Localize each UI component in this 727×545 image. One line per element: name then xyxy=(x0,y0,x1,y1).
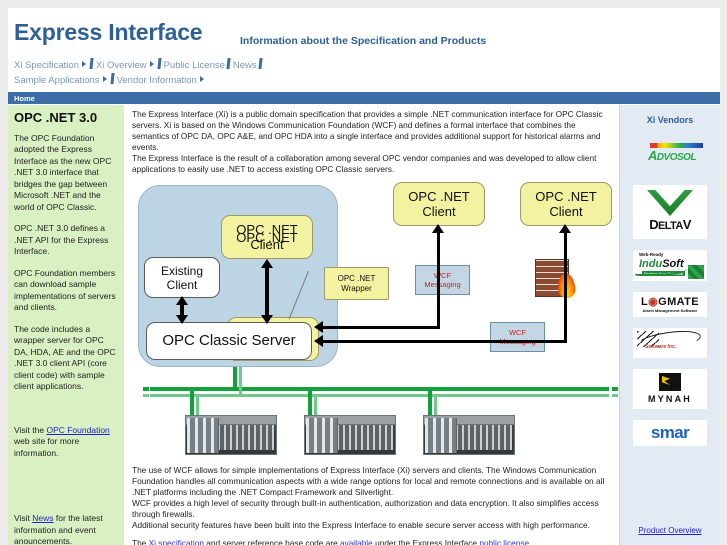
arrow-client3-to-wcf xyxy=(564,232,567,342)
client3-label: OPC .NET Client xyxy=(535,189,596,219)
news-prefix: Visit xyxy=(14,513,32,523)
vendor-logo-logmate[interactable]: L◉GMATE Alarm Management Software xyxy=(633,292,707,317)
nav-separator xyxy=(226,58,230,69)
diagram-box-opc-net-wrapper: OPC .NET Wrapper xyxy=(324,267,389,300)
right-sidebar: Xi Vendors ADVOSOL DELTAV Web-Ready Indu… xyxy=(619,105,720,545)
vendor-logo-advosol[interactable]: ADVOSOL xyxy=(633,138,707,174)
arrowhead-left xyxy=(314,321,323,333)
breadcrumb[interactable]: Home xyxy=(8,92,720,105)
left-sidebar: OPC .NET 3.0 The OPC Foundation adopted … xyxy=(8,105,125,545)
vendor-logo-deltav[interactable]: DELTAV xyxy=(633,185,707,239)
diagram-box-opc-classic-server: OPC Classic Server xyxy=(146,322,312,360)
license-line: The Xi specification and server referenc… xyxy=(132,538,612,545)
xi-specification-link[interactable]: Xi specification xyxy=(149,538,204,545)
server-rack-1 xyxy=(185,415,277,455)
chevron-right-icon[interactable] xyxy=(150,61,154,67)
network-drop-host-2 xyxy=(239,367,242,396)
rack-tower xyxy=(425,418,457,453)
intro-block: The Express Interface (Xi) is a public d… xyxy=(132,109,612,175)
network-drop-rack-3 xyxy=(428,389,432,417)
news-link[interactable]: News xyxy=(32,513,53,523)
diagram-box-opc-net-client-2: OPC .NET Client xyxy=(393,182,485,226)
available-link[interactable]: available xyxy=(340,538,373,545)
architecture-diagram: OPC .NET OPC .NET Client Existing Client… xyxy=(132,177,622,459)
network-dash-left-2 xyxy=(143,394,169,397)
vendors-title: Xi Vendors xyxy=(620,115,720,125)
intro-paragraph-1: The Express Interface (Xi) is a public d… xyxy=(132,109,612,153)
license-part3: under the Express Interface xyxy=(373,538,480,545)
wcf2-label: WCF Messaging xyxy=(499,328,535,346)
spacer xyxy=(14,403,117,425)
logmate-tagline: Alarm Management Software xyxy=(633,308,707,313)
inner-client-label: OPC .NET Client xyxy=(221,215,313,259)
page-root: Express Interface Information about the … xyxy=(8,8,720,545)
diagram-box-wcf-messaging-1: WCF Messaging xyxy=(415,265,470,295)
top-navigation: Xi SpecificationXi OverviewPublic Licens… xyxy=(14,58,344,88)
mynah-wordmark: MYNAH xyxy=(633,394,707,404)
rack-tower xyxy=(187,418,219,453)
deltav-chevron-icon xyxy=(647,190,693,216)
indusoft-tagline: Web-Ready xyxy=(639,252,663,257)
page-title: Express Interface xyxy=(14,19,202,46)
arrowhead-down xyxy=(176,315,188,324)
left-sidebar-paragraph-4: The code includes a wrapper server for O… xyxy=(14,324,117,393)
rack-tower xyxy=(306,418,338,453)
arrowhead-down xyxy=(261,315,273,324)
nav-separator xyxy=(258,58,262,69)
outro-block: The use of WCF allows for simple impleme… xyxy=(132,465,612,545)
chevron-right-icon[interactable] xyxy=(82,61,86,67)
network-dash-right xyxy=(594,387,620,391)
spacer xyxy=(14,469,117,513)
breadcrumb-home[interactable]: Home xyxy=(14,94,35,103)
outro-paragraph-3: Additional security features have been b… xyxy=(132,520,612,531)
network-drop-rack-1b xyxy=(196,395,199,417)
public-license-link[interactable]: public license xyxy=(479,538,529,545)
chevron-right-icon[interactable] xyxy=(103,76,107,82)
existing-client-label: Existing Client xyxy=(161,264,203,292)
network-drop-rack-2 xyxy=(308,389,312,417)
nav-separator xyxy=(110,73,114,84)
license-part1: The xyxy=(132,538,149,545)
network-dash-right-2 xyxy=(594,394,620,397)
content-columns: OPC .NET 3.0 The OPC Foundation adopted … xyxy=(8,105,720,545)
nav-item-news[interactable]: News xyxy=(233,60,257,71)
network-dash-left xyxy=(143,387,169,391)
product-overview-link[interactable]: Product Overview xyxy=(620,526,720,535)
smar-wordmark: smar xyxy=(633,423,707,443)
opc-foundation-paragraph: Visit the OPC Foundation web site for mo… xyxy=(14,425,117,460)
diagram-box-existing-client: Existing Client xyxy=(144,257,220,298)
license-part4: . xyxy=(529,538,531,545)
chevron-right-icon[interactable] xyxy=(200,76,204,82)
news-paragraph: Visit News for the latest information an… xyxy=(14,513,117,545)
arrowhead-up xyxy=(261,259,273,268)
nav-item-sample-applications[interactable]: Sample Applications xyxy=(14,75,100,86)
nav-item-xi-specification[interactable]: Xi Specification xyxy=(14,60,79,71)
arrow-wcf1-to-server xyxy=(322,326,440,329)
site-header: Express Interface Information about the … xyxy=(8,8,720,92)
main-content: The Express Interface (Xi) is a public d… xyxy=(126,105,618,545)
diagram-box-wcf-messaging-2: WCF Messaging xyxy=(490,322,545,352)
left-sidebar-heading: OPC .NET 3.0 xyxy=(14,112,117,124)
opc-foundation-suffix: web site for more information. xyxy=(14,436,79,458)
nav-item-public-license[interactable]: Public License xyxy=(164,60,225,71)
network-bus-secondary xyxy=(150,394,605,397)
server-rack-3 xyxy=(423,415,515,455)
nav-separator xyxy=(89,58,93,69)
wcf1-label: WCF Messaging xyxy=(424,271,460,289)
site-tagline: Information about the Specification and … xyxy=(240,35,486,47)
logmate-wordmark: L◉GMATE xyxy=(633,295,707,308)
intro-paragraph-2: The Express Interface is the result of a… xyxy=(132,153,612,175)
network-bus-main xyxy=(150,387,605,391)
left-sidebar-paragraph-1: The OPC Foundation adopted the Express I… xyxy=(14,133,117,214)
license-part2: and server reference base code are xyxy=(204,538,340,545)
arrowhead-up xyxy=(432,224,444,233)
nav-item-xi-overview[interactable]: Xi Overview xyxy=(96,60,147,71)
vendor-logo-smar[interactable]: smar xyxy=(633,420,707,446)
vendor-logo-software-inc[interactable]: Software Inc. xyxy=(633,328,707,358)
indusoft-cubes-icon xyxy=(688,265,704,279)
classic-server-label: OPC Classic Server xyxy=(162,334,295,348)
server-rack-2 xyxy=(304,415,396,455)
deltav-wordmark: DELTAV xyxy=(633,217,707,232)
arrowhead-left xyxy=(314,335,323,347)
network-drop-rack-1 xyxy=(190,389,194,417)
network-drop-host xyxy=(233,367,237,389)
opc-foundation-prefix: Visit the xyxy=(14,425,46,435)
nav-separator xyxy=(157,58,161,69)
nav-item-vendor-information[interactable]: Vendor Information xyxy=(117,75,197,86)
advosol-wordmark: ADVOSOL xyxy=(637,148,707,163)
left-sidebar-paragraph-3: OPC Foundation members can download samp… xyxy=(14,268,117,314)
client2-label: OPC .NET Client xyxy=(408,189,469,219)
network-drop-rack-3b xyxy=(434,395,437,417)
wrapper-label: OPC .NET Wrapper xyxy=(338,274,376,294)
arrowhead-up xyxy=(559,224,571,233)
arrow-client2-to-wcf xyxy=(437,232,440,326)
opc-foundation-link[interactable]: OPC Foundation xyxy=(46,425,109,435)
arrowhead-up xyxy=(176,296,188,305)
vendor-logo-indusoft[interactable]: Web-Ready InduSoft Realize Your Potentia… xyxy=(633,250,707,281)
outro-paragraph-2: WCF provides a high level of security th… xyxy=(132,498,612,520)
vendor-logo-mynah[interactable]: MYNAH xyxy=(633,369,707,409)
outro-paragraph-1: The use of WCF allows for simple impleme… xyxy=(132,465,612,498)
left-sidebar-paragraph-2: OPC .NET 3.0 defines a .NET API for the … xyxy=(14,223,117,258)
arrow-wcf2-to-server xyxy=(322,340,567,343)
diagram-box-opc-net-client-3: OPC .NET Client xyxy=(520,182,612,226)
network-drop-rack-2b xyxy=(314,395,317,417)
software-inc-wordmark: Software Inc. xyxy=(645,344,676,350)
arrow-inner-client-server xyxy=(265,266,269,320)
